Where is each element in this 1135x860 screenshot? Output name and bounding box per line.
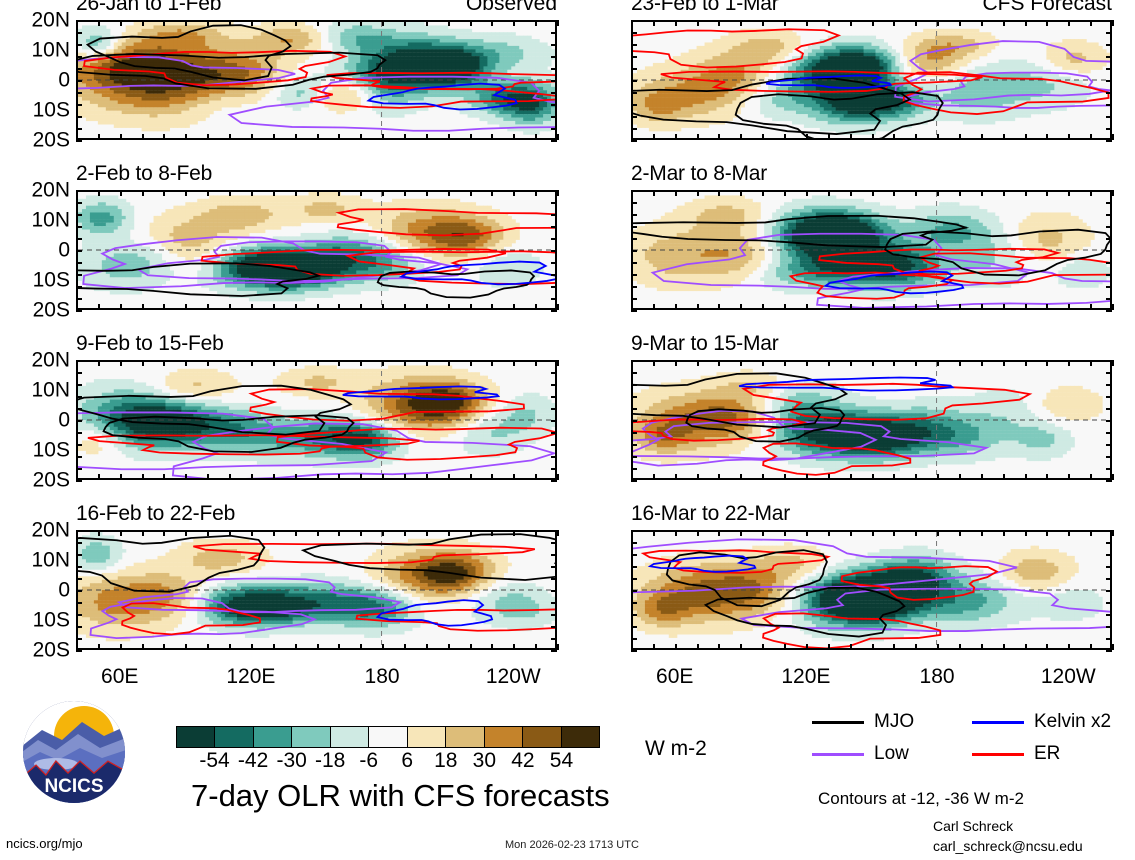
panel-9-mar-to-15-mar: 9-Mar to 15-Mar (631, 360, 1112, 480)
axis-tick (631, 80, 637, 82)
colorbar-tick-label: 54 (550, 750, 573, 772)
axis-tick (675, 134, 677, 140)
map-area (631, 360, 1112, 480)
axis-tick (631, 286, 637, 288)
axis-tick (1046, 530, 1048, 536)
axis-tick (229, 360, 231, 366)
axis-tick (470, 474, 472, 480)
axis-tick (295, 304, 297, 310)
axis-tick (872, 530, 874, 536)
axis-tick (360, 474, 362, 480)
axis-tick (207, 190, 209, 196)
axis-tick (338, 134, 340, 140)
axis-tick (382, 474, 384, 480)
axis-tick (76, 578, 82, 580)
axis-tick (491, 20, 493, 26)
colorbar-swatch (331, 727, 369, 747)
axis-tick (120, 360, 122, 366)
axis-tick (513, 304, 515, 310)
axis-tick (937, 360, 939, 366)
axis-tick (697, 134, 699, 140)
axis-tick (1106, 286, 1112, 288)
axis-tick (491, 530, 493, 536)
axis-tick (1003, 644, 1005, 650)
axis-tick (806, 644, 808, 650)
axis-tick (981, 360, 983, 366)
axis-tick (551, 190, 557, 192)
axis-tick (142, 360, 144, 366)
axis-tick (872, 304, 874, 310)
y-axis-label: 0 (58, 580, 70, 601)
axis-tick (76, 480, 82, 482)
axis-tick (893, 360, 895, 366)
axis-tick (185, 360, 187, 366)
axis-tick (1106, 238, 1112, 240)
axis-tick (1003, 474, 1005, 480)
panel-title: 26-Jan to 1-Feb (76, 0, 221, 14)
axis-tick (551, 372, 557, 374)
axis-tick (360, 304, 362, 310)
colorbar-tick-label: 42 (511, 750, 534, 772)
axis-tick (1106, 578, 1112, 580)
axis-tick (98, 20, 100, 26)
axis-tick (981, 304, 983, 310)
axis-tick (959, 304, 961, 310)
axis-tick (535, 20, 537, 26)
axis-tick (426, 20, 428, 26)
axis-tick (631, 92, 637, 94)
coastline (697, 300, 709, 307)
axis-tick (872, 134, 874, 140)
colorbar-swatch (485, 727, 523, 747)
axis-tick (426, 190, 428, 196)
axis-tick (937, 474, 939, 480)
panel-title: 9-Feb to 15-Feb (76, 333, 224, 354)
axis-tick (1106, 408, 1112, 410)
axis-tick (1106, 80, 1112, 82)
axis-tick (76, 250, 82, 252)
axis-tick (1090, 644, 1092, 650)
axis-tick (338, 474, 340, 480)
axis-tick (1112, 360, 1114, 366)
axis-tick (915, 644, 917, 650)
axis-tick (76, 226, 82, 228)
site-url: ncics.org/mjo (6, 836, 83, 851)
axis-tick (1068, 644, 1070, 650)
axis-tick (551, 420, 557, 422)
panel-23-feb-to-1-mar: 23-Feb to 1-MarCFS Forecast (631, 20, 1112, 140)
axis-tick (1112, 304, 1114, 310)
axis-tick (1025, 304, 1027, 310)
axis-tick (1106, 590, 1112, 592)
axis-tick (273, 474, 275, 480)
axis-tick (142, 190, 144, 196)
axis-tick (404, 20, 406, 26)
axis-tick (338, 360, 340, 366)
axis-tick (1068, 360, 1070, 366)
axis-tick (915, 360, 917, 366)
x-axis-label: 120W (1041, 666, 1096, 687)
legend-label-kelvin-x2: Kelvin x2 (1034, 712, 1111, 731)
axis-tick (251, 644, 253, 650)
axis-tick (937, 190, 939, 196)
axis-tick (1106, 104, 1112, 106)
axis-tick (981, 190, 983, 196)
axis-tick (551, 408, 557, 410)
axis-tick (185, 304, 187, 310)
axis-tick (229, 190, 231, 196)
map-area (76, 530, 557, 650)
axis-tick (937, 20, 939, 26)
axis-tick (1090, 360, 1092, 366)
axis-tick (142, 20, 144, 26)
axis-tick (557, 530, 559, 536)
axis-tick (251, 20, 253, 26)
axis-tick (551, 396, 557, 398)
axis-tick (317, 474, 319, 480)
axis-tick (426, 304, 428, 310)
axis-tick (653, 190, 655, 196)
axis-tick (273, 360, 275, 366)
axis-tick (317, 134, 319, 140)
colorbar-ticks: -54-42-30-18-6618304254 (176, 750, 600, 776)
axis-tick (551, 432, 557, 434)
axis-tick (893, 530, 895, 536)
axis-tick (382, 190, 384, 196)
axis-tick (317, 304, 319, 310)
axis-tick (76, 116, 82, 118)
axis-tick (98, 134, 100, 140)
ncics-logo: NCICS (22, 700, 126, 804)
colorbar (176, 726, 600, 748)
axis-tick (207, 134, 209, 140)
axis-tick (551, 286, 557, 288)
y-axis-label: 20S (33, 300, 70, 321)
axis-tick (828, 134, 830, 140)
axis-tick (1106, 116, 1112, 118)
axis-tick (273, 134, 275, 140)
axis-tick (828, 360, 830, 366)
axis-tick (631, 480, 637, 482)
axis-tick (76, 310, 82, 312)
axis-tick (631, 638, 637, 640)
axis-tick (631, 214, 637, 216)
axis-tick (872, 20, 874, 26)
axis-tick (915, 530, 917, 536)
coastline (821, 364, 850, 384)
axis-tick (762, 304, 764, 310)
axis-tick (76, 214, 82, 216)
axis-tick (959, 360, 961, 366)
axis-tick (806, 530, 808, 536)
axis-tick (551, 68, 557, 70)
axis-tick (893, 134, 895, 140)
axis-tick (631, 104, 637, 106)
axis-tick (76, 92, 82, 94)
axis-tick (491, 360, 493, 366)
axis-tick (1106, 566, 1112, 568)
axis-tick (959, 530, 961, 536)
axis-tick (631, 128, 637, 130)
axis-tick (551, 80, 557, 82)
axis-tick (740, 190, 742, 196)
axis-tick (404, 530, 406, 536)
axis-tick (229, 530, 231, 536)
legend-label-low: Low (874, 744, 909, 763)
axis-tick (872, 190, 874, 196)
axis-tick (404, 304, 406, 310)
axis-tick (163, 134, 165, 140)
axis-tick (360, 190, 362, 196)
axis-tick (893, 474, 895, 480)
y-axis-label: 20N (31, 10, 70, 31)
axis-tick (959, 190, 961, 196)
colorbar-swatch (254, 727, 292, 747)
axis-tick (295, 644, 297, 650)
axis-tick (653, 474, 655, 480)
axis-tick (76, 542, 82, 544)
axis-tick (740, 644, 742, 650)
colorbar-swatch (408, 727, 446, 747)
axis-tick (1106, 128, 1112, 130)
axis-tick (1106, 262, 1112, 264)
axis-tick (207, 360, 209, 366)
axis-tick (631, 20, 637, 22)
axis-tick (513, 644, 515, 650)
x-axis-label: 120E (226, 666, 275, 687)
axis-tick (142, 304, 144, 310)
axis-tick (163, 20, 165, 26)
axis-tick (491, 190, 493, 196)
axis-tick (76, 262, 82, 264)
axis-tick (1106, 250, 1112, 252)
axis-tick (76, 626, 82, 628)
axis-tick (229, 644, 231, 650)
axis-tick (76, 408, 82, 410)
axis-tick (120, 20, 122, 26)
axis-tick (76, 128, 82, 130)
axis-tick (98, 190, 100, 196)
axis-tick (631, 226, 637, 228)
axis-tick (1106, 372, 1112, 374)
axis-tick (1106, 420, 1112, 422)
coastline (142, 300, 154, 307)
panel-title: 9-Mar to 15-Mar (631, 333, 779, 354)
axis-tick (1068, 134, 1070, 140)
axis-tick (76, 420, 82, 422)
axis-tick (273, 530, 275, 536)
axis-tick (273, 20, 275, 26)
axis-tick (1090, 304, 1092, 310)
y-axis-label: 10N (31, 40, 70, 61)
axis-tick (1046, 190, 1048, 196)
axis-tick (981, 20, 983, 26)
axis-tick (76, 396, 82, 398)
panel-corner-label: CFS Forecast (982, 0, 1112, 14)
panel-16-feb-to-22-feb: 16-Feb to 22-Feb20N10N010S20S60E120E1801… (76, 530, 557, 650)
axis-tick (631, 578, 637, 580)
axis-tick (1106, 384, 1112, 386)
axis-tick (76, 190, 82, 192)
coastline (697, 640, 709, 647)
colorbar-tick-label: -30 (276, 750, 306, 772)
axis-tick (163, 360, 165, 366)
axis-tick (551, 44, 557, 46)
panel-26-jan-to-1-feb: 26-Jan to 1-FebObserved20N10N010S20S (76, 20, 557, 140)
axis-tick (697, 20, 699, 26)
y-axis-label: 20N (31, 350, 70, 371)
axis-tick (1003, 20, 1005, 26)
axis-tick (697, 530, 699, 536)
axis-tick (513, 134, 515, 140)
axis-tick (1106, 226, 1112, 228)
colorbar-swatch (369, 727, 407, 747)
axis-tick (251, 134, 253, 140)
axis-tick (937, 304, 939, 310)
axis-tick (631, 566, 637, 568)
axis-tick (557, 644, 559, 650)
axis-tick (697, 474, 699, 480)
axis-tick (551, 202, 557, 204)
colorbar-tick-label: 6 (401, 750, 413, 772)
axis-tick (338, 304, 340, 310)
axis-tick (1112, 134, 1114, 140)
axis-tick (631, 408, 637, 410)
axis-tick (76, 80, 82, 82)
author-name: Carl Schreck (933, 818, 1013, 834)
axis-tick (360, 134, 362, 140)
axis-tick (273, 304, 275, 310)
axis-tick (295, 20, 297, 26)
axis-tick (718, 644, 720, 650)
axis-tick (631, 420, 637, 422)
axis-tick (850, 530, 852, 536)
axis-tick (631, 274, 637, 276)
axis-tick (76, 360, 82, 362)
axis-tick (551, 360, 557, 362)
coastline (142, 640, 154, 647)
axis-tick (981, 644, 983, 650)
axis-tick (76, 140, 82, 142)
axis-tick (120, 644, 122, 650)
y-axis-label: 20S (33, 470, 70, 491)
axis-tick (631, 384, 637, 386)
y-axis-label: 10N (31, 380, 70, 401)
colorbar-swatch (562, 727, 599, 747)
axis-tick (76, 638, 82, 640)
axis-tick (762, 134, 764, 140)
axis-tick (631, 372, 637, 374)
axis-tick (1046, 644, 1048, 650)
axis-tick (448, 644, 450, 650)
axis-tick (295, 190, 297, 196)
axis-tick (207, 304, 209, 310)
axis-tick (557, 474, 559, 480)
axis-tick (551, 614, 557, 616)
axis-tick (491, 304, 493, 310)
axis-tick (1025, 644, 1027, 650)
axis-tick (1025, 474, 1027, 480)
axis-tick (828, 20, 830, 26)
axis-tick (872, 644, 874, 650)
axis-tick (1106, 44, 1112, 46)
axis-tick (1106, 140, 1112, 142)
axis-tick (1068, 474, 1070, 480)
axis-tick (1046, 134, 1048, 140)
axis-tick (959, 474, 961, 480)
axis-tick (273, 190, 275, 196)
legend-line-kelvin-x2 (972, 721, 1024, 724)
panel-9-feb-to-15-feb: 9-Feb to 15-Feb20N10N010S20S (76, 360, 557, 480)
axis-tick (382, 360, 384, 366)
axis-tick (98, 644, 100, 650)
axis-tick (470, 530, 472, 536)
axis-tick (76, 32, 82, 34)
axis-tick (76, 456, 82, 458)
axis-tick (959, 134, 961, 140)
axis-tick (740, 304, 742, 310)
axis-tick (762, 474, 764, 480)
axis-tick (551, 104, 557, 106)
axis-tick (631, 468, 637, 470)
axis-tick (557, 134, 559, 140)
axis-tick (740, 530, 742, 536)
axis-tick (185, 474, 187, 480)
axis-tick (1025, 190, 1027, 196)
axis-tick (784, 190, 786, 196)
axis-tick (1106, 444, 1112, 446)
axis-tick (551, 638, 557, 640)
panel-title: 16-Feb to 22-Feb (76, 503, 235, 524)
axis-tick (1106, 56, 1112, 58)
axis-tick (1046, 20, 1048, 26)
axis-tick (185, 644, 187, 650)
axis-tick (317, 360, 319, 366)
axis-tick (1106, 480, 1112, 482)
axis-tick (850, 134, 852, 140)
axis-tick (806, 20, 808, 26)
axis-tick (382, 644, 384, 650)
axis-tick (981, 530, 983, 536)
axis-tick (1106, 432, 1112, 434)
axis-tick (784, 530, 786, 536)
axis-tick (1068, 530, 1070, 536)
y-axis-label: 0 (58, 70, 70, 91)
axis-tick (448, 190, 450, 196)
axis-tick (1068, 190, 1070, 196)
axis-tick (653, 304, 655, 310)
axis-tick (697, 304, 699, 310)
axis-tick (1106, 32, 1112, 34)
axis-tick (828, 190, 830, 196)
axis-tick (1025, 360, 1027, 366)
axis-tick (470, 304, 472, 310)
axis-tick (1068, 304, 1070, 310)
axis-tick (915, 304, 917, 310)
axis-tick (718, 360, 720, 366)
axis-tick (338, 190, 340, 196)
axis-tick (1003, 190, 1005, 196)
axis-tick (76, 238, 82, 240)
axis-tick (1068, 20, 1070, 26)
axis-tick (718, 20, 720, 26)
axis-tick (76, 530, 82, 532)
axis-tick (675, 360, 677, 366)
axis-tick (491, 474, 493, 480)
colorbar-swatch (215, 727, 253, 747)
axis-tick (631, 530, 637, 532)
axis-tick (1106, 92, 1112, 94)
